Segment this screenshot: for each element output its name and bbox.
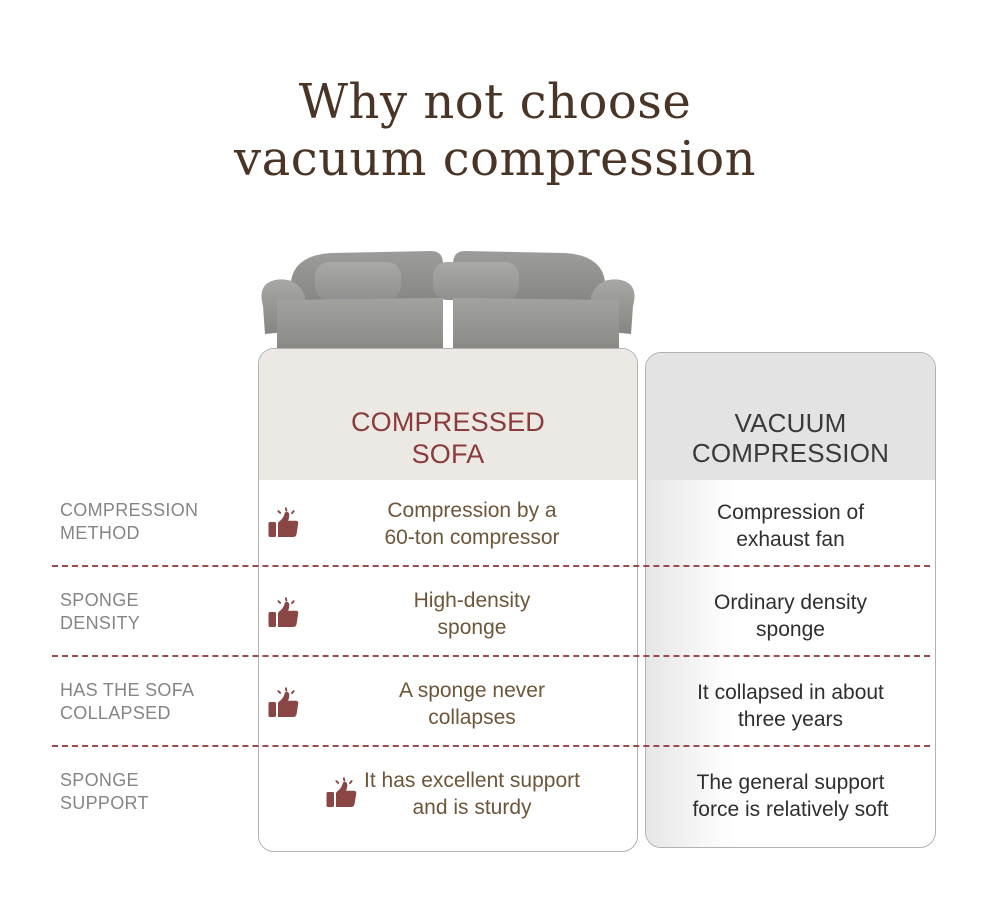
compressed-column-header: COMPRESSED SOFA (259, 349, 637, 480)
text-line-1: Compression by a (387, 499, 556, 522)
compressed-cell-text-2: High-density sponge (312, 588, 632, 642)
table-row: COMPRESSION METHOD Compression by a 60-t… (0, 480, 990, 570)
thumbs-up-icon (266, 507, 302, 543)
text-line-2: and is sturdy (412, 796, 531, 819)
text-line-1: It has excellent support (364, 769, 580, 792)
row-label-has-the-sofa-collapsed: HAS THE SOFA COLLAPSED (60, 679, 250, 725)
row-label-line-2: DENSITY (60, 613, 140, 633)
text-line-2: sponge (756, 618, 825, 641)
thumbs-up-icon (266, 597, 302, 633)
table-row: SPONGE SUPPORT It has excellent support … (0, 750, 990, 840)
text-line-2: force is relatively soft (692, 798, 888, 821)
vacuum-cell-4: The general support force is relatively … (648, 770, 933, 824)
page-title-line-2: vacuum compression (0, 131, 990, 188)
row-label-line-2: SUPPORT (60, 793, 149, 813)
row-label-sponge-density: SPONGE DENSITY (60, 589, 250, 635)
table-row: SPONGE DENSITY High-density sponge Ordin… (0, 570, 990, 660)
compressed-cell-3: A sponge never collapses (266, 675, 632, 735)
text-line-2: 60-ton compressor (384, 526, 559, 549)
row-label-line-1: SPONGE (60, 770, 139, 790)
text-line-2: collapses (428, 706, 516, 729)
vacuum-cell-3: It collapsed in about three years (648, 680, 933, 734)
compressed-cell-2: High-density sponge (266, 585, 632, 645)
comparison-table: COMPRESSION METHOD Compression by a 60-t… (0, 480, 990, 850)
compressed-cell-text-1: Compression by a 60-ton compressor (312, 498, 632, 552)
compressed-column-title: COMPRESSED SOFA (351, 407, 545, 470)
text-line-2: sponge (438, 616, 507, 639)
vacuum-title-line-2: COMPRESSION (692, 438, 889, 468)
vacuum-cell-2: Ordinary density sponge (648, 590, 933, 644)
row-label-line-2: METHOD (60, 523, 140, 543)
row-label-sponge-support: SPONGE SUPPORT (60, 769, 250, 815)
row-label-line-1: HAS THE SOFA (60, 680, 194, 700)
row-label-line-2: COLLAPSED (60, 703, 171, 723)
text-line-1: A sponge never (399, 679, 545, 702)
text-line-1: High-density (414, 589, 531, 612)
row-label-line-1: COMPRESSION (60, 500, 198, 520)
row-separator (52, 655, 930, 657)
compressed-cell-1: Compression by a 60-ton compressor (266, 495, 632, 555)
row-label-line-1: SPONGE (60, 590, 139, 610)
row-label-compression-method: COMPRESSION METHOD (60, 499, 250, 545)
vacuum-cell-1: Compression of exhaust fan (648, 500, 933, 554)
compressed-cell-text-3: A sponge never collapses (312, 678, 632, 732)
page-title: Why not choose vacuum compression (0, 74, 990, 187)
page-title-line-1: Why not choose (0, 74, 990, 131)
compressed-cell-text-4: It has excellent support and is sturdy (364, 768, 580, 822)
text-line-1: Ordinary density (714, 591, 867, 614)
thumbs-up-icon (266, 687, 302, 723)
vacuum-column-title: VACUUM COMPRESSION (692, 408, 889, 468)
compressed-cell-4: It has excellent support and is sturdy (272, 765, 632, 825)
text-line-1: Compression of (717, 501, 864, 524)
text-line-1: The general support (697, 771, 885, 794)
thumbs-up-icon (324, 777, 360, 813)
compressed-title-line-1: COMPRESSED (351, 407, 545, 437)
compressed-title-line-2: SOFA (412, 439, 485, 469)
text-line-2: exhaust fan (736, 528, 845, 551)
text-line-1: It collapsed in about (697, 681, 884, 704)
vacuum-title-line-1: VACUUM (735, 408, 847, 438)
vacuum-column-header: VACUUM COMPRESSION (646, 353, 935, 480)
row-separator (52, 745, 930, 747)
text-line-2: three years (738, 708, 843, 731)
row-separator (52, 565, 930, 567)
table-row: HAS THE SOFA COLLAPSED A sponge never co… (0, 660, 990, 750)
